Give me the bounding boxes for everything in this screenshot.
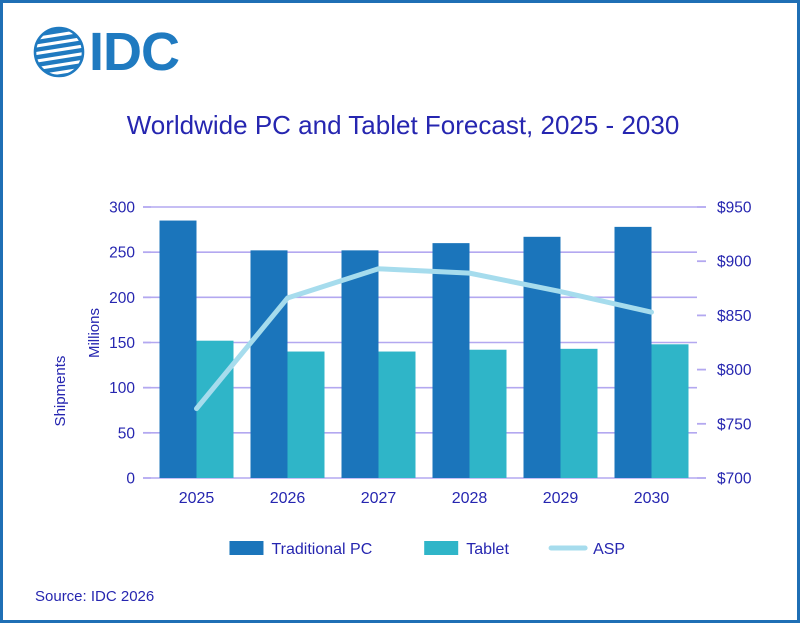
right-tick-label: $900 (717, 254, 752, 271)
right-tick-label: $850 (717, 308, 752, 325)
bar-tablet (470, 350, 507, 478)
x-axis-tick-label: 2025 (179, 490, 215, 507)
legend-label: Tablet (466, 541, 509, 558)
left-tick-label: 0 (126, 471, 135, 488)
legend-label: Traditional PC (271, 541, 372, 558)
x-axis-tick-label: 2027 (361, 490, 397, 507)
left-tick-label: 200 (109, 290, 135, 307)
source-note: Source: IDC 2026 (35, 588, 154, 605)
bar-tablet (379, 352, 416, 478)
bar-tablet (288, 352, 325, 478)
left-tick-label: 250 (109, 245, 135, 262)
left-tick-label: 100 (109, 380, 135, 397)
y-axis-title-line1: Shipments (52, 356, 69, 427)
bar-tablet (561, 349, 598, 478)
left-tick-label: 300 (109, 200, 135, 217)
legend-label: ASP (593, 541, 625, 558)
right-tick-label: $750 (717, 416, 752, 433)
bar-tablet (197, 341, 234, 478)
bar-tablet (652, 344, 689, 478)
chart-figure: IDC Worldwide PC and Tablet Forecast, 20… (0, 0, 800, 623)
x-axis-category-labels: 202520262027202820292030 (179, 490, 670, 507)
chart-plot-area: 050100150200250300 $700$750$800$850$900$… (3, 3, 800, 623)
bar-traditional-pc (342, 250, 379, 478)
legend-swatch (424, 541, 458, 555)
legend-swatch (229, 541, 263, 555)
right-tick-label: $700 (717, 471, 752, 488)
right-tick-label: $950 (717, 200, 752, 217)
bar-traditional-pc (615, 227, 652, 478)
x-axis-tick-label: 2026 (270, 490, 306, 507)
left-tick-label: 50 (118, 425, 136, 442)
bar-traditional-pc (524, 237, 561, 478)
right-tick-label: $800 (717, 362, 752, 379)
right-axis-ticks: $700$750$800$850$900$950 (697, 200, 752, 488)
y-axis-title-line2: Millions (86, 308, 103, 358)
left-axis-ticks: 050100150200250300 (109, 200, 151, 488)
chart-legend: Traditional PCTabletASP (229, 541, 625, 558)
x-axis-tick-label: 2028 (452, 490, 488, 507)
left-tick-label: 150 (109, 335, 135, 352)
x-axis-tick-label: 2029 (543, 490, 579, 507)
bar-traditional-pc (160, 221, 197, 478)
bar-traditional-pc (433, 243, 470, 478)
bar-traditional-pc (251, 250, 288, 478)
x-axis-tick-label: 2030 (634, 490, 670, 507)
